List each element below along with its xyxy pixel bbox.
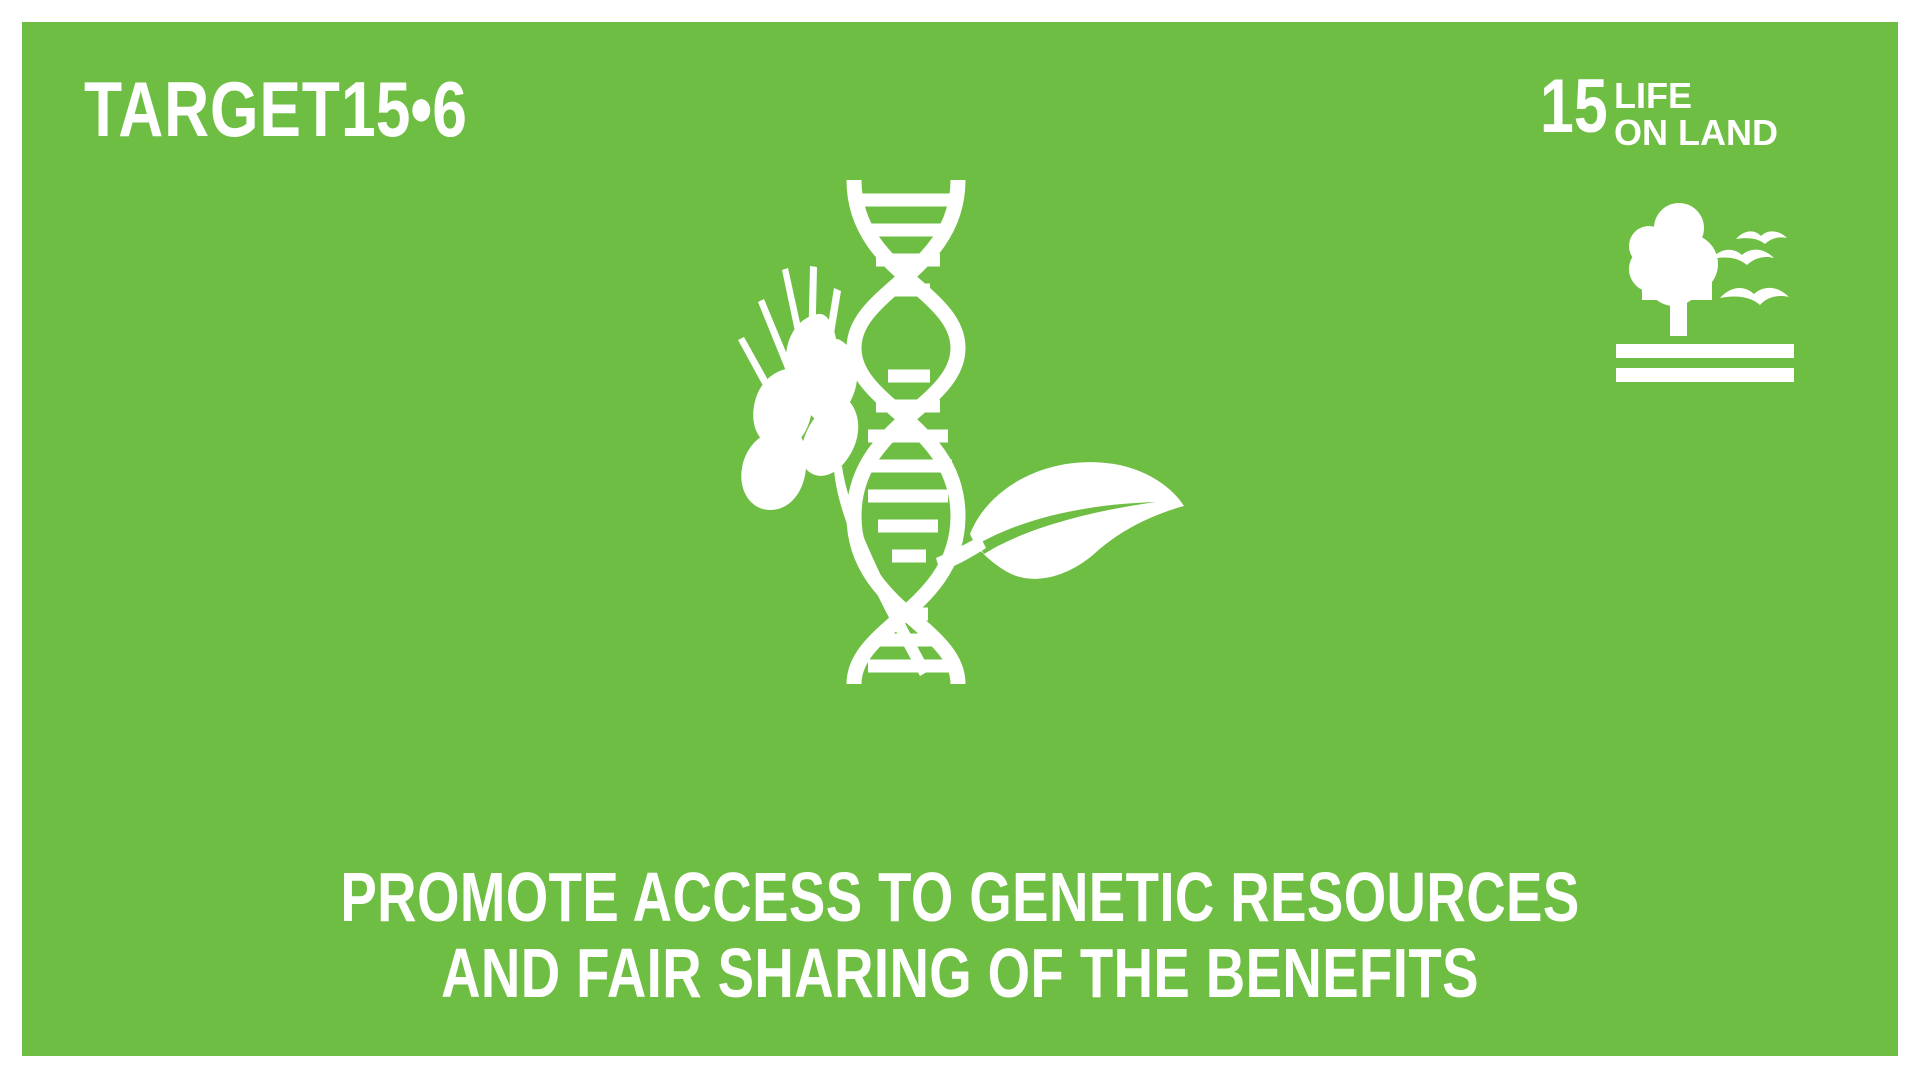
dna-helix-wheat-leaf-icon: [722, 162, 1202, 702]
target-label: TARGET: [84, 70, 341, 148]
sdg-goal-badge: 15 LIFE ON LAND: [1540, 74, 1860, 404]
sdg-goal-number: 15: [1540, 74, 1604, 141]
sdg-goal-title: LIFE ON LAND: [1614, 74, 1860, 151]
green-panel: TARGET 15•6 15 LIFE ON LAND: [22, 22, 1898, 1056]
sdg-badge-header: 15 LIFE ON LAND: [1540, 74, 1860, 166]
caption-line-2: AND FAIR SHARING OF THE BENEFITS: [228, 936, 1691, 1012]
caption-line-1: PROMOTE ACCESS TO GENETIC RESOURCES: [228, 860, 1691, 936]
target-heading: TARGET 15•6: [84, 70, 498, 148]
target-number: 15•6: [341, 70, 467, 148]
tree-and-birds-icon: [1616, 202, 1816, 392]
sdg-goal-title-line2: ON LAND: [1614, 112, 1778, 153]
sdg-goal-title-line1: LIFE: [1614, 75, 1692, 116]
sdg-target-poster: TARGET 15•6 15 LIFE ON LAND: [0, 0, 1920, 1080]
target-caption: PROMOTE ACCESS TO GENETIC RESOURCES AND …: [22, 860, 1898, 1011]
